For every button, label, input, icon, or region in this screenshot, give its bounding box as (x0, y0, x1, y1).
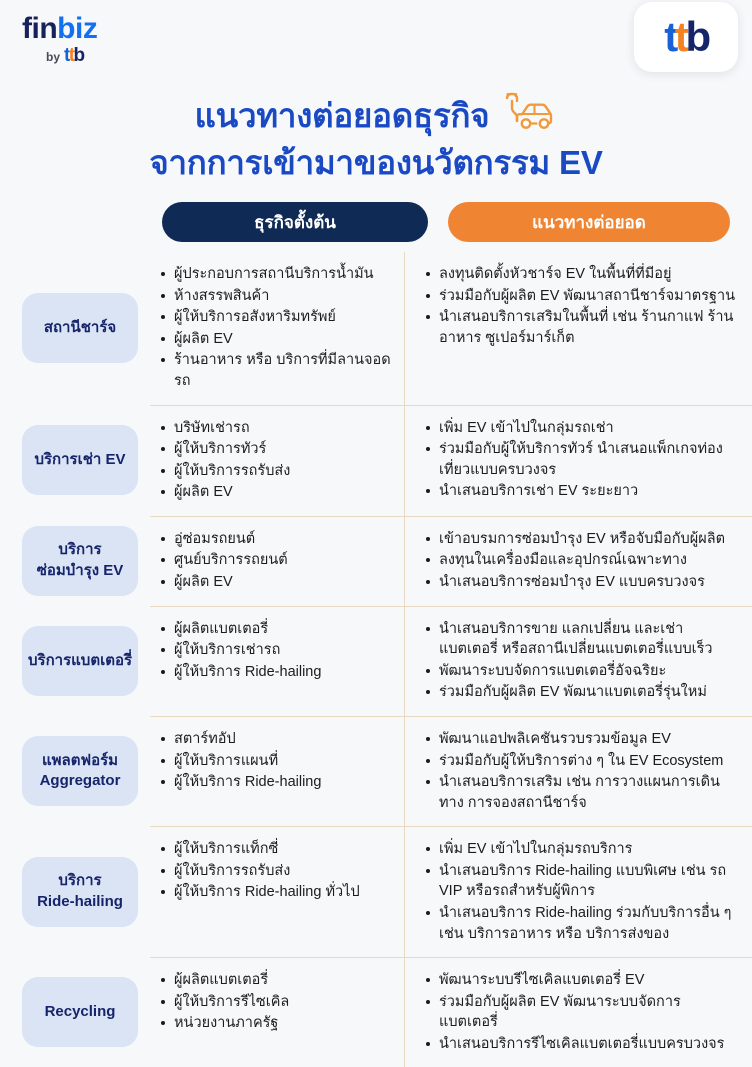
category-cell: บริการซ่อมบำรุง EV (0, 516, 150, 606)
extend-cell-list: เข้าอบรมการซ่อมบำรุง EV หรือจับมือกับผู้… (421, 529, 738, 593)
finbiz-wordmark: finbiz (22, 14, 97, 44)
list-item: นำเสนอบริการรีไซเคิลแบตเตอรี่แบบครบวงจร (439, 1034, 738, 1055)
extend-cell: นำเสนอบริการขาย แลกเปลี่ยน และเช่าแบตเตอ… (404, 606, 752, 716)
startup-cell-list: บริษัทเช่ารถผู้ให้บริการทัวร์ผู้ให้บริกา… (156, 418, 394, 503)
list-item: ผู้ให้บริการ Ride-hailing ทั่วไป (174, 882, 394, 903)
extend-cell: เพิ่ม EV เข้าไปในกลุ่มรถเช่าร่วมมือกับผู… (404, 405, 752, 516)
category-cell: Recycling (0, 957, 150, 1067)
ttb-logo-t2: t (675, 13, 686, 60)
startup-cell-list: ผู้ผลิตแบตเตอรี่ผู้ให้บริการเช่ารถผู้ให้… (156, 619, 394, 683)
startup-cell: ผู้ให้บริการแท็กซี่ผู้ให้บริการรถรับส่งผ… (150, 826, 404, 957)
list-item: ผู้ให้บริการรถรับส่ง (174, 861, 394, 882)
list-item: ผู้ให้บริการแท็กซี่ (174, 839, 394, 860)
list-item: ร่วมมือกับผู้ให้บริการทัวร์ นำเสนอแพ็กเก… (439, 439, 738, 480)
list-item: ศูนย์บริการรถยนต์ (174, 550, 394, 571)
page-header: finbiz by ttb ttb (0, 0, 752, 86)
table-row: แพลตฟอร์มAggregatorสตาร์ทอัปผู้ให้บริการ… (0, 716, 752, 826)
category-cell: บริการแบตเตอรี่ (0, 606, 150, 716)
extend-cell: ลงทุนติดตั้งหัวชาร์จ EV ในพื้นที่ที่มีอย… (404, 252, 752, 404)
category-pill: สถานีชาร์จ (22, 293, 138, 363)
title-line-1: แนวทางต่อยอดธุรกิจ (195, 94, 490, 138)
finbiz-logo: finbiz by ttb (22, 14, 97, 65)
list-item: พัฒนาระบบรีไซเคิลแบตเตอรี่ EV (439, 970, 738, 991)
extend-cell: เพิ่ม EV เข้าไปในกลุ่มรถบริการนำเสนอบริก… (404, 826, 752, 957)
extend-cell-list: พัฒนาระบบรีไซเคิลแบตเตอรี่ EVร่วมมือกับผ… (421, 970, 738, 1054)
column-headers: ธุรกิจตั้งต้น แนวทางต่อยอด (0, 202, 752, 242)
list-item: ผู้ให้บริการรีไซเคิล (174, 992, 394, 1013)
finbiz-fin-text: fin (22, 12, 57, 45)
category-cell: สถานีชาร์จ (0, 252, 150, 404)
extend-cell-list: ลงทุนติดตั้งหัวชาร์จ EV ในพื้นที่ที่มีอย… (421, 264, 738, 348)
list-item: ลงทุนติดตั้งหัวชาร์จ EV ในพื้นที่ที่มีอย… (439, 264, 738, 285)
list-item: หน่วยงานภาครัฐ (174, 1013, 394, 1034)
list-item: ร่วมมือกับผู้ผลิต EV พัฒนาสถานีชาร์จมาตร… (439, 286, 738, 307)
category-pill: Recycling (22, 977, 138, 1047)
ttb-logo-t1: t (664, 13, 675, 60)
list-item: ผู้ให้บริการทัวร์ (174, 439, 394, 460)
category-pill: บริการซ่อมบำรุง EV (22, 526, 138, 596)
list-item: ห้างสรรพสินค้า (174, 286, 394, 307)
page-title: แนวทางต่อยอดธุรกิจ จากการเข้ามาของนวัตกร… (0, 90, 752, 184)
startup-cell-list: ผู้ให้บริการแท็กซี่ผู้ให้บริการรถรับส่งผ… (156, 839, 394, 903)
ttb-logo-b: b (685, 13, 707, 60)
table-row: บริการRide-hailingผู้ให้บริการแท็กซี่ผู้… (0, 826, 752, 957)
table-row: สถานีชาร์จผู้ประกอบการสถานีบริการน้ำมันห… (0, 252, 752, 404)
extend-cell-list: พัฒนาแอปพลิเคชันรวบรวมข้อมูล EVร่วมมือกั… (421, 729, 738, 813)
list-item: สตาร์ทอัป (174, 729, 394, 750)
table-row: บริการซ่อมบำรุง EVอู่ซ่อมรถยนต์ศูนย์บริก… (0, 516, 752, 606)
column-header-startup: ธุรกิจตั้งต้น (162, 202, 428, 242)
list-item: นำเสนอบริการ Ride-hailing ร่วมกับบริการอ… (439, 903, 738, 944)
list-item: อู่ซ่อมรถยนต์ (174, 529, 394, 550)
startup-cell: ผู้ผลิตแบตเตอรี่ผู้ให้บริการรีไซเคิลหน่ว… (150, 957, 404, 1067)
list-item: ผู้ประกอบการสถานีบริการน้ำมัน (174, 264, 394, 285)
title-line-1-row: แนวทางต่อยอดธุรกิจ (195, 90, 558, 141)
list-item: บริษัทเช่ารถ (174, 418, 394, 439)
list-item: นำเสนอบริการ Ride-hailing แบบพิเศษ เช่น … (439, 861, 738, 902)
finbiz-biz-text: biz (57, 12, 97, 45)
list-item: ผู้ผลิต EV (174, 482, 394, 503)
list-item: ร่วมมือกับผู้ผลิต EV พัฒนาแบตเตอรี่รุ่นใ… (439, 682, 738, 703)
list-item: พัฒนาแอปพลิเคชันรวบรวมข้อมูล EV (439, 729, 738, 750)
startup-cell-list: ผู้ผลิตแบตเตอรี่ผู้ให้บริการรีไซเคิลหน่ว… (156, 970, 394, 1034)
table-row: Recyclingผู้ผลิตแบตเตอรี่ผู้ให้บริการรีไ… (0, 957, 752, 1067)
list-item: ผู้ผลิตแบตเตอรี่ (174, 970, 394, 991)
list-item: ผู้ให้บริการ Ride-hailing (174, 662, 394, 683)
ttb-small-logo: ttb (64, 46, 83, 65)
extend-cell-list: นำเสนอบริการขาย แลกเปลี่ยน และเช่าแบตเตอ… (421, 619, 738, 703)
category-pill: บริการแบตเตอรี่ (22, 626, 138, 696)
table-row: บริการเช่า EVบริษัทเช่ารถผู้ให้บริการทัว… (0, 405, 752, 516)
list-item: ลงทุนในเครื่องมือและอุปกรณ์เฉพาะทาง (439, 550, 738, 571)
category-cell: บริการRide-hailing (0, 826, 150, 957)
startup-cell: ผู้ผลิตแบตเตอรี่ผู้ให้บริการเช่ารถผู้ให้… (150, 606, 404, 716)
extend-cell: พัฒนาแอปพลิเคชันรวบรวมข้อมูล EVร่วมมือกั… (404, 716, 752, 826)
list-item: ร้านอาหาร หรือ บริการที่มีลานจอดรถ (174, 350, 394, 391)
list-item: ผู้ให้บริการ Ride-hailing (174, 772, 394, 793)
list-item: นำเสนอบริการเสริม เช่น การวางแผนการเดินท… (439, 772, 738, 813)
category-pill: บริการเช่า EV (22, 425, 138, 495)
ttb-small-b: b (73, 45, 83, 66)
list-item: ผู้ให้บริการรถรับส่ง (174, 461, 394, 482)
ttb-logo-badge: ttb (634, 2, 738, 72)
startup-cell: อู่ซ่อมรถยนต์ศูนย์บริการรถยนต์ผู้ผลิต EV (150, 516, 404, 606)
ev-car-icon (495, 90, 557, 141)
list-item: เพิ่ม EV เข้าไปในกลุ่มรถเช่า (439, 418, 738, 439)
ttb-logo: ttb (664, 16, 707, 58)
list-item: ผู้ให้บริการเช่ารถ (174, 640, 394, 661)
list-item: ร่วมมือกับผู้ให้บริการต่าง ๆ ใน EV Ecosy… (439, 751, 738, 772)
finbiz-byline: by ttb (46, 46, 97, 65)
list-item: นำเสนอบริการขาย แลกเปลี่ยน และเช่าแบตเตอ… (439, 619, 738, 660)
comparison-table: สถานีชาร์จผู้ประกอบการสถานีบริการน้ำมันห… (0, 252, 752, 1067)
category-cell: แพลตฟอร์มAggregator (0, 716, 150, 826)
list-item: ผู้ให้บริการอสังหาริมทรัพย์ (174, 307, 394, 328)
list-item: ผู้ให้บริการแผนที่ (174, 751, 394, 772)
list-item: ร่วมมือกับผู้ผลิต EV พัฒนาระบบจัดการแบตเ… (439, 992, 738, 1033)
list-item: ผู้ผลิต EV (174, 572, 394, 593)
list-item: เข้าอบรมการซ่อมบำรุง EV หรือจับมือกับผู้… (439, 529, 738, 550)
byline-label: by (46, 50, 60, 64)
list-item: นำเสนอบริการซ่อมบำรุง EV แบบครบวงจร (439, 572, 738, 593)
table-row: บริการแบตเตอรี่ผู้ผลิตแบตเตอรี่ผู้ให้บริ… (0, 606, 752, 716)
extend-cell-list: เพิ่ม EV เข้าไปในกลุ่มรถบริการนำเสนอบริก… (421, 839, 738, 944)
title-line-2: จากการเข้ามาของนวัตกรรม EV (20, 141, 732, 185)
startup-cell: ผู้ประกอบการสถานีบริการน้ำมันห้างสรรพสิน… (150, 252, 404, 404)
list-item: นำเสนอบริการเสริมในพื้นที่ เช่น ร้านกาแฟ… (439, 307, 738, 348)
startup-cell: บริษัทเช่ารถผู้ให้บริการทัวร์ผู้ให้บริกา… (150, 405, 404, 516)
list-item: เพิ่ม EV เข้าไปในกลุ่มรถบริการ (439, 839, 738, 860)
startup-cell-list: สตาร์ทอัปผู้ให้บริการแผนที่ผู้ให้บริการ … (156, 729, 394, 793)
startup-cell: สตาร์ทอัปผู้ให้บริการแผนที่ผู้ให้บริการ … (150, 716, 404, 826)
column-header-extend: แนวทางต่อยอด (448, 202, 730, 242)
extend-cell-list: เพิ่ม EV เข้าไปในกลุ่มรถเช่าร่วมมือกับผู… (421, 418, 738, 502)
category-cell: บริการเช่า EV (0, 405, 150, 516)
category-pill: แพลตฟอร์มAggregator (22, 736, 138, 806)
startup-cell-list: อู่ซ่อมรถยนต์ศูนย์บริการรถยนต์ผู้ผลิต EV (156, 529, 394, 593)
extend-cell: เข้าอบรมการซ่อมบำรุง EV หรือจับมือกับผู้… (404, 516, 752, 606)
list-item: ผู้ผลิต EV (174, 329, 394, 350)
extend-cell: พัฒนาระบบรีไซเคิลแบตเตอรี่ EVร่วมมือกับผ… (404, 957, 752, 1067)
list-item: ผู้ผลิตแบตเตอรี่ (174, 619, 394, 640)
list-item: พัฒนาระบบจัดการแบตเตอรี่อัจฉริยะ (439, 661, 738, 682)
category-pill: บริการRide-hailing (22, 857, 138, 927)
startup-cell-list: ผู้ประกอบการสถานีบริการน้ำมันห้างสรรพสิน… (156, 264, 394, 391)
list-item: นำเสนอบริการเช่า EV ระยะยาว (439, 481, 738, 502)
